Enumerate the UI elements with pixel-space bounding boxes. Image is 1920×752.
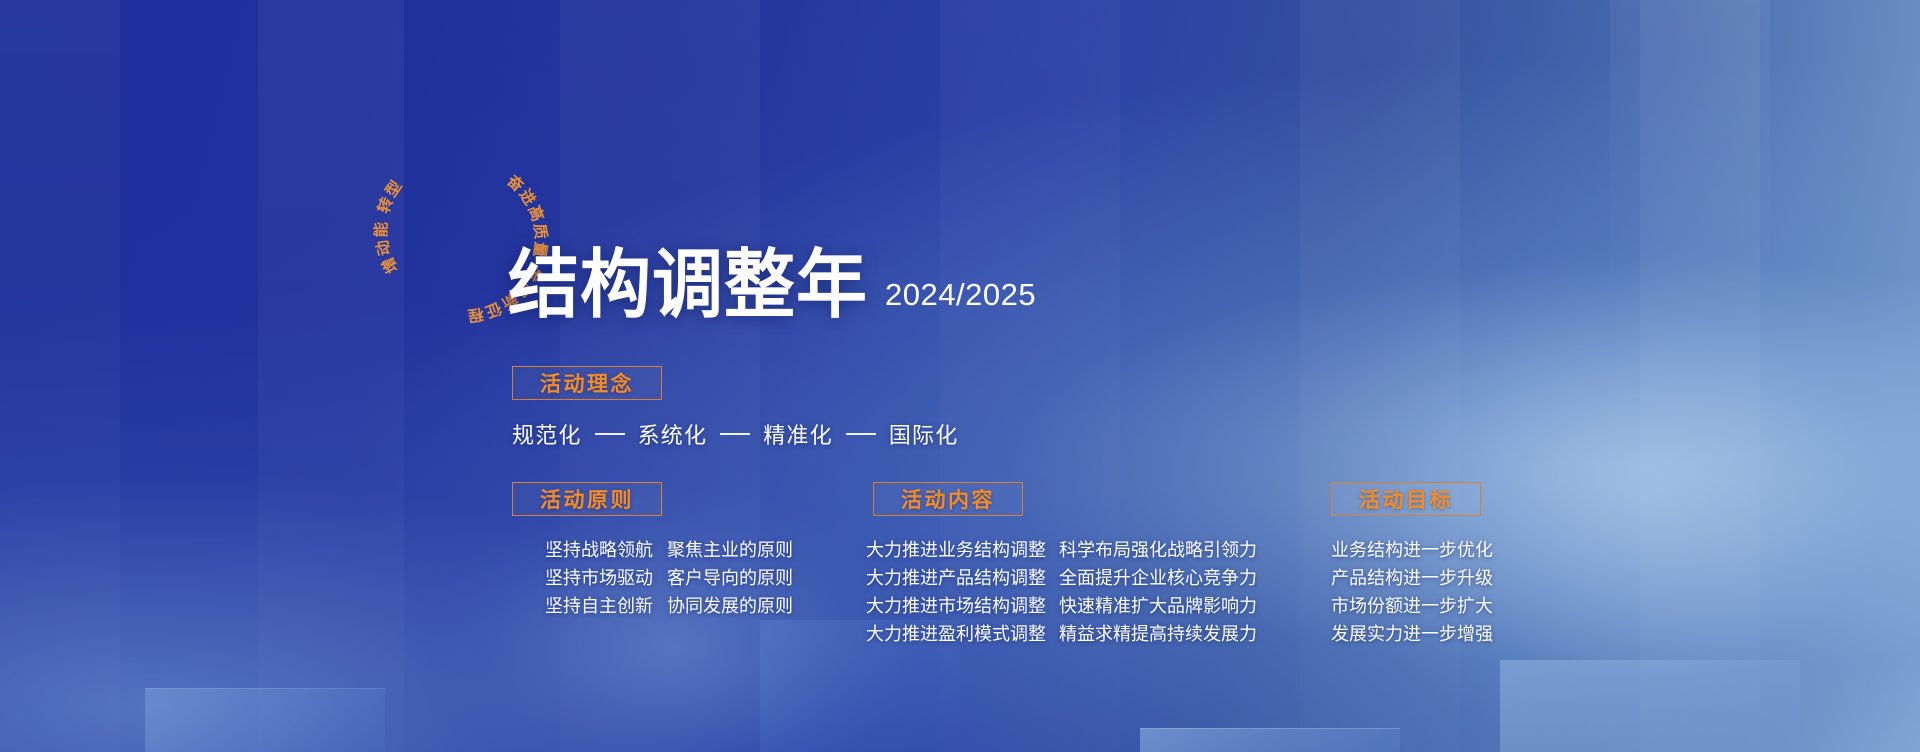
concept-separator-icon: [595, 433, 625, 435]
list-item: 大力推进市场结构调整 快速精准扩大品牌影响力: [866, 592, 1257, 620]
bg-stripe-6: [1640, 0, 1760, 752]
concept-item-3: 国际化: [889, 418, 959, 450]
badge-activity-goal[interactable]: 活动目标: [1331, 482, 1481, 516]
principle-row-0-b: 聚焦主业的原则: [667, 536, 793, 564]
concept-separator-icon: [846, 433, 876, 435]
principle-list: 坚持战略领航 聚焦主业的原则 坚持市场驱动 客户导向的原则 坚持自主创新 协同发…: [545, 536, 793, 620]
bg-block-right-bottom: [1500, 660, 1800, 752]
content-row-2-a: 大力推进市场结构调整: [866, 592, 1046, 620]
list-item: 坚持市场驱动 客户导向的原则: [545, 564, 793, 592]
title-block: 结构调整年 2024/2025: [508, 253, 1036, 321]
list-item: 业务结构进一步优化: [1331, 536, 1493, 564]
goal-row-2: 市场份额进一步扩大: [1331, 592, 1493, 620]
principle-row-1-b: 客户导向的原则: [667, 564, 793, 592]
list-item: 大力推进盈利模式调整 精益求精提高持续发展力: [866, 620, 1257, 648]
goal-row-1: 产品结构进一步升级: [1331, 564, 1493, 592]
badge-activity-content[interactable]: 活动内容: [873, 482, 1023, 516]
content-row-3-b: 精益求精提高持续发展力: [1059, 620, 1257, 648]
content-row-1-a: 大力推进产品结构调整: [866, 564, 1046, 592]
list-item: 大力推进业务结构调整 科学布局强化战略引领力: [866, 536, 1257, 564]
principle-row-2-b: 协同发展的原则: [667, 592, 793, 620]
list-item: 坚持战略领航 聚焦主业的原则: [545, 536, 793, 564]
bg-stripe-2: [258, 0, 404, 752]
list-item: 坚持自主创新 协同发展的原则: [545, 592, 793, 620]
bg-block-left-bottom: [145, 688, 385, 752]
content-row-2-b: 快速精准扩大品牌影响力: [1059, 592, 1257, 620]
concept-separator-icon: [720, 433, 750, 435]
year-label: 2024/2025: [885, 277, 1036, 321]
list-item: 产品结构进一步升级: [1331, 564, 1493, 592]
goal-row-3: 发展实力进一步增强: [1331, 620, 1493, 648]
content-list: 大力推进业务结构调整 科学布局强化战略引领力 大力推进产品结构调整 全面提升企业…: [866, 536, 1257, 648]
page-title: 结构调整年: [508, 249, 868, 321]
list-item: 大力推进产品结构调整 全面提升企业核心竞争力: [866, 564, 1257, 592]
badge-activity-principle[interactable]: 活动原则: [512, 482, 662, 516]
content-row-0-a: 大力推进业务结构调整: [866, 536, 1046, 564]
goal-row-0: 业务结构进一步优化: [1331, 536, 1493, 564]
bg-block-mid2-bottom: [1140, 728, 1400, 752]
goal-list: 业务结构进一步优化 产品结构进一步升级 市场份额进一步扩大 发展实力进一步增强: [1331, 536, 1493, 648]
circular-emblem: 增动能 转型 奋进高质量 发展新征程: [398, 140, 510, 312]
content-row-1-b: 全面提升企业核心竞争力: [1059, 564, 1257, 592]
content-row-0-b: 科学布局强化战略引领力: [1059, 536, 1257, 564]
bg-block-right-top: [1610, 0, 1770, 300]
banner-root: 增动能 转型 奋进高质量 发展新征程 结构调整年 2024/2025 活动理念 …: [0, 0, 1920, 752]
content-row-3-a: 大力推进盈利模式调整: [866, 620, 1046, 648]
concept-item-0: 规范化: [512, 418, 582, 450]
concept-item-2: 精准化: [763, 418, 833, 450]
list-item: 市场份额进一步扩大: [1331, 592, 1493, 620]
concept-items-row: 规范化 系统化 精准化 国际化: [512, 418, 958, 450]
bg-glow-right: [1180, 140, 1920, 752]
list-item: 发展实力进一步增强: [1331, 620, 1493, 648]
principle-row-1-a: 坚持市场驱动: [545, 564, 653, 592]
principle-row-2-a: 坚持自主创新: [545, 592, 653, 620]
badge-activity-concept[interactable]: 活动理念: [512, 366, 662, 400]
concept-item-1: 系统化: [638, 418, 708, 450]
bg-stripe-1: [0, 0, 120, 752]
principle-row-0-a: 坚持战略领航: [545, 536, 653, 564]
emblem-arc-left-text: 增动能 转型: [371, 176, 406, 276]
